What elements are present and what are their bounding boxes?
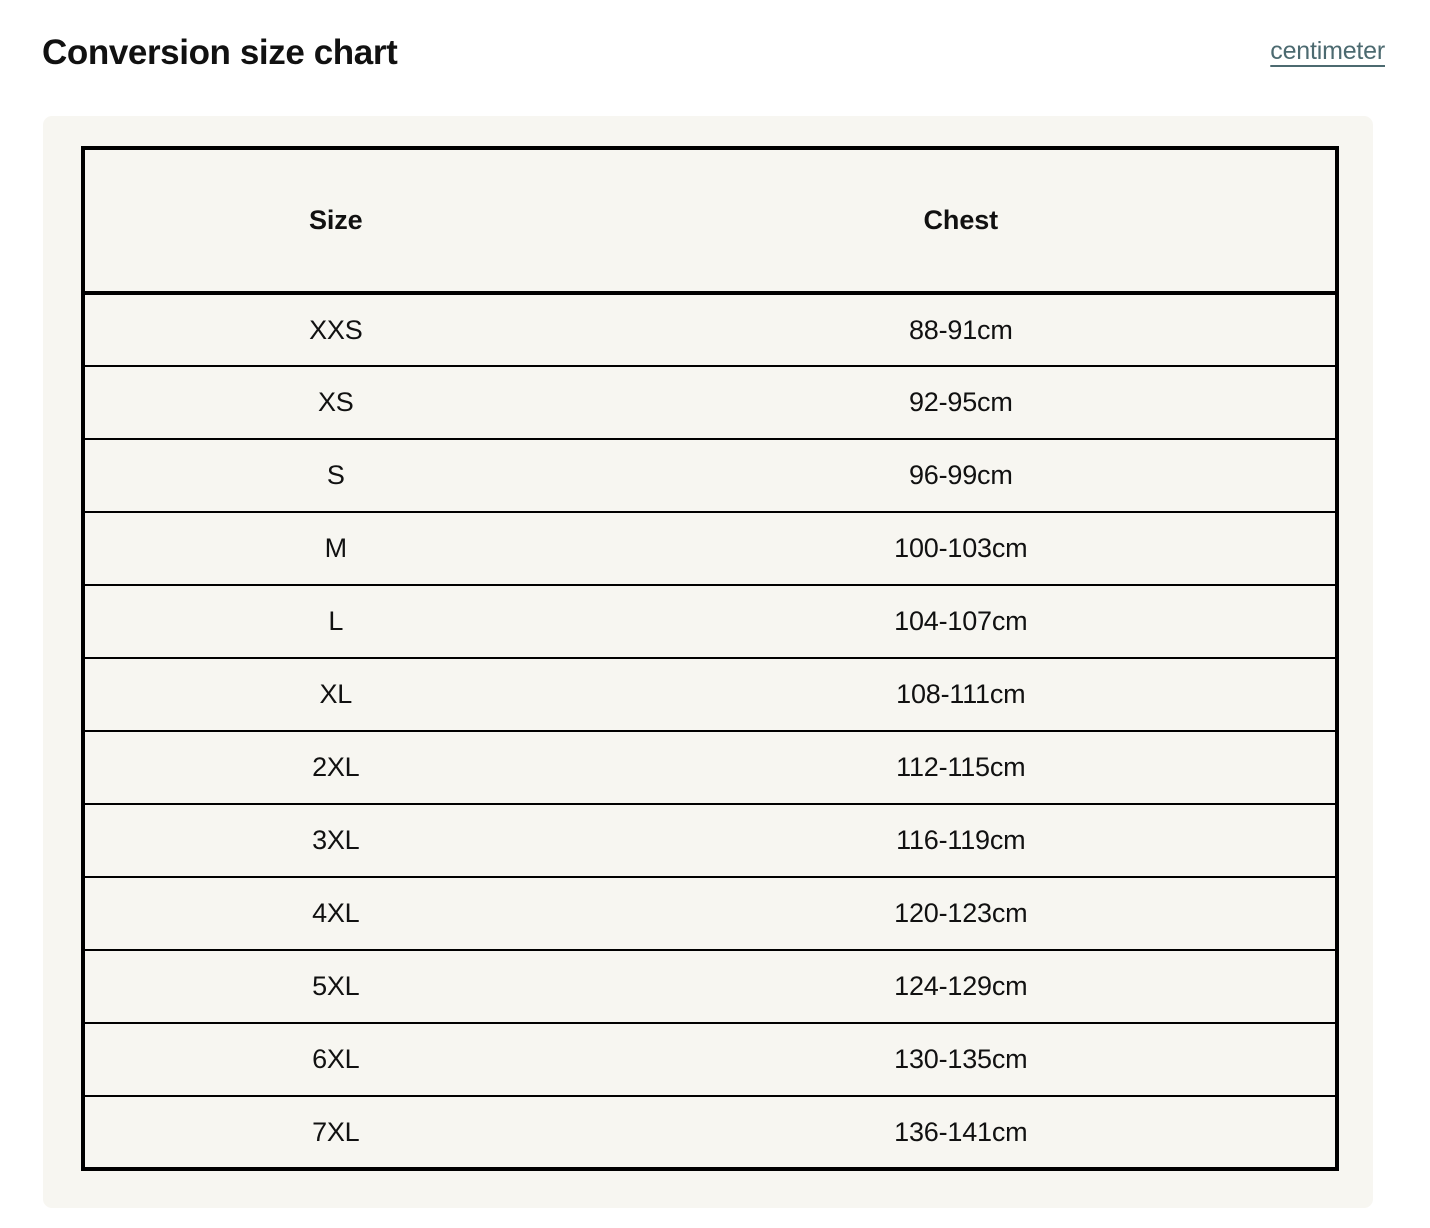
cell-size: S [83, 439, 587, 512]
table-row: 7XL 136-141cm [83, 1096, 1337, 1169]
table-row: 3XL 116-119cm [83, 804, 1337, 877]
cell-size: 3XL [83, 804, 587, 877]
cell-size: 5XL [83, 950, 587, 1023]
table-row: XL 108-111cm [83, 658, 1337, 731]
table-row: XS 92-95cm [83, 366, 1337, 439]
table-body: XXS 88-91cm XS 92-95cm S 96-99cm M 100-1… [83, 293, 1337, 1169]
unit-toggle-link[interactable]: centimeter [1270, 37, 1385, 66]
cell-size: M [83, 512, 587, 585]
table-row: 4XL 120-123cm [83, 877, 1337, 950]
cell-chest: 104-107cm [587, 585, 1337, 658]
cell-size: XS [83, 366, 587, 439]
cell-chest: 112-115cm [587, 731, 1337, 804]
page-header: Conversion size chart centimeter [0, 0, 1430, 115]
cell-chest: 124-129cm [587, 950, 1337, 1023]
page-title: Conversion size chart [42, 34, 397, 73]
cell-size: 2XL [83, 731, 587, 804]
cell-size: 4XL [83, 877, 587, 950]
column-header-size: Size [83, 148, 587, 293]
cell-chest: 100-103cm [587, 512, 1337, 585]
table-row: XXS 88-91cm [83, 293, 1337, 366]
table-row: L 104-107cm [83, 585, 1337, 658]
table-row: M 100-103cm [83, 512, 1337, 585]
table-row: 2XL 112-115cm [83, 731, 1337, 804]
column-header-chest: Chest [587, 148, 1337, 293]
table-row: 6XL 130-135cm [83, 1023, 1337, 1096]
cell-chest: 136-141cm [587, 1096, 1337, 1169]
table-header-row: Size Chest [83, 148, 1337, 293]
cell-chest: 108-111cm [587, 658, 1337, 731]
cell-size: XXS [83, 293, 587, 366]
size-chart-table: Size Chest XXS 88-91cm XS 92-95cm S 96-9… [81, 146, 1339, 1171]
cell-chest: 96-99cm [587, 439, 1337, 512]
cell-chest: 92-95cm [587, 366, 1337, 439]
cell-chest: 130-135cm [587, 1023, 1337, 1096]
cell-size: XL [83, 658, 587, 731]
table-row: 5XL 124-129cm [83, 950, 1337, 1023]
table-header: Size Chest [83, 148, 1337, 293]
size-chart-panel: Size Chest XXS 88-91cm XS 92-95cm S 96-9… [43, 116, 1373, 1208]
table-row: S 96-99cm [83, 439, 1337, 512]
cell-size: 6XL [83, 1023, 587, 1096]
cell-chest: 120-123cm [587, 877, 1337, 950]
cell-size: 7XL [83, 1096, 587, 1169]
cell-chest: 116-119cm [587, 804, 1337, 877]
cell-size: L [83, 585, 587, 658]
size-chart-page: Conversion size chart centimeter Size Ch… [0, 0, 1430, 1228]
cell-chest: 88-91cm [587, 293, 1337, 366]
